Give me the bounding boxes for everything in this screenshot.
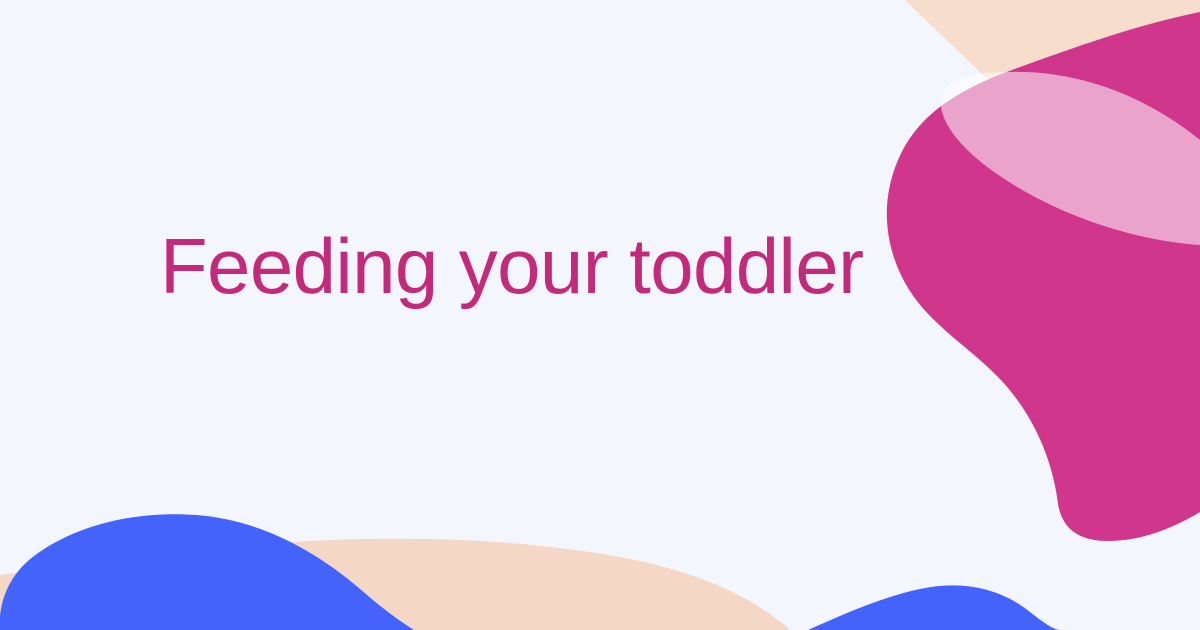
page-title: Feeding your toddler [160,218,863,314]
banner-card: Feeding your toddler [0,0,1200,630]
decorative-background-art [0,0,1200,630]
